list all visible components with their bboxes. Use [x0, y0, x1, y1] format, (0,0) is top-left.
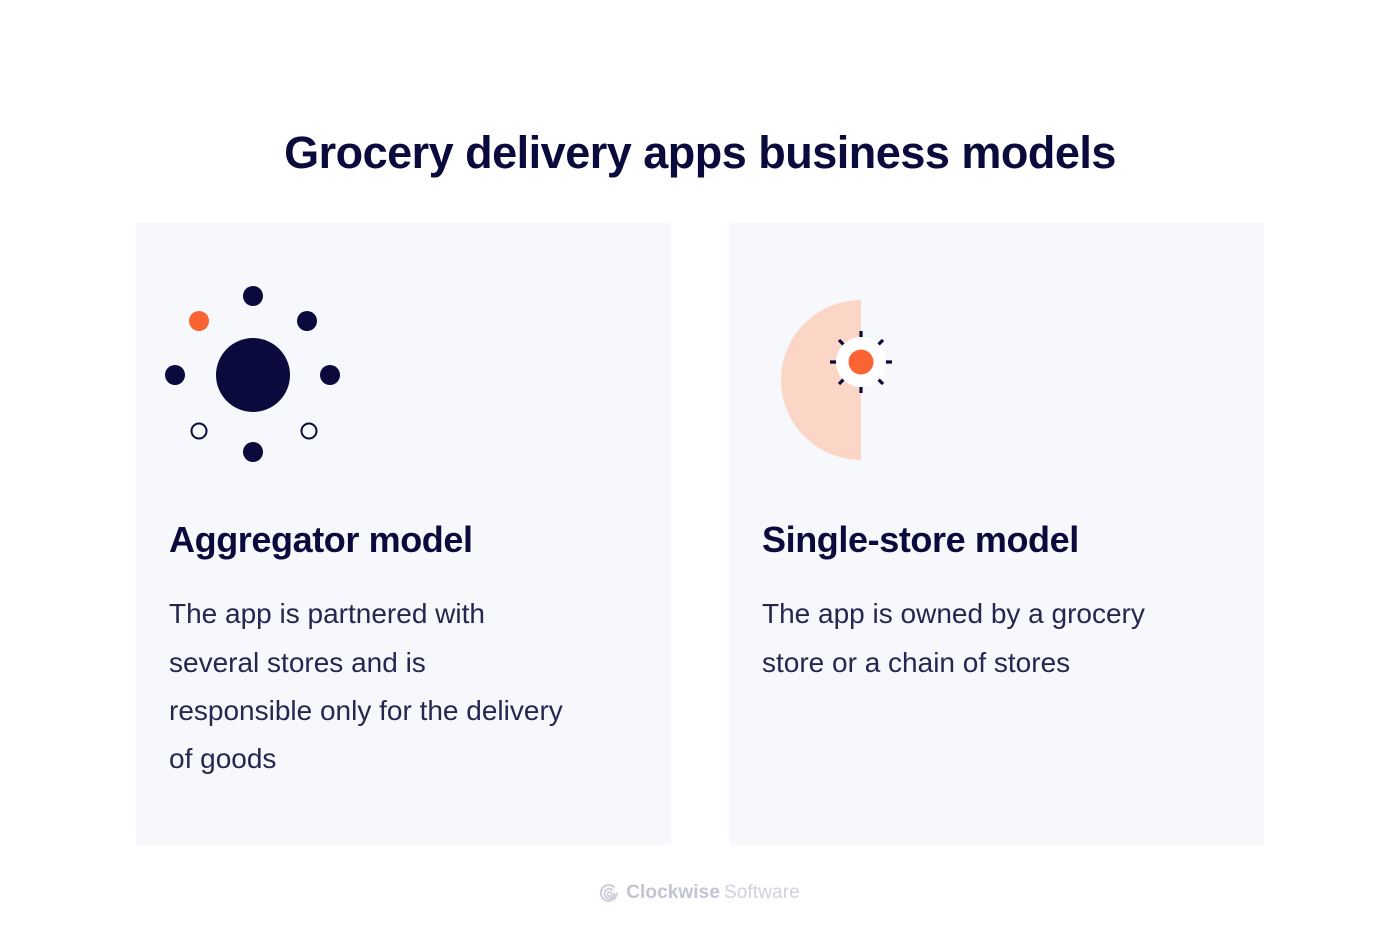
card-aggregator: Aggregator model The app is partnered wi… [136, 223, 671, 845]
satellite-dot-lower-right-hollow [302, 424, 317, 439]
hub-circle [216, 338, 290, 412]
clockwise-spiral-logo-icon [600, 884, 619, 903]
aggregator-network-icon [136, 223, 671, 513]
card-single-store-description: The app is owned by a grocery store or a… [762, 590, 1182, 686]
footer-brand-suffix: Software [724, 882, 800, 903]
single-store-sun-icon [729, 223, 1264, 513]
card-single-store: Single-store model The app is owned by a… [729, 223, 1264, 845]
satellite-dot-bottom [243, 442, 263, 462]
card-single-store-body: Single-store model The app is owned by a… [762, 519, 1232, 687]
satellite-dot-upper-right [297, 311, 317, 331]
infographic-page: Grocery delivery apps business models [0, 0, 1400, 950]
store-core-accent-dot [849, 350, 874, 375]
satellite-dot-top [243, 286, 263, 306]
card-aggregator-description: The app is partnered with several stores… [169, 590, 569, 783]
model-cards-row: Aggregator model The app is partnered wi… [136, 223, 1264, 845]
card-single-store-heading: Single-store model [762, 519, 1232, 560]
footer-logo: ClockwiseSoftware [0, 882, 1400, 904]
satellite-dot-lower-left-hollow [192, 424, 207, 439]
card-aggregator-heading: Aggregator model [169, 519, 639, 560]
footer-brand-text: ClockwiseSoftware [626, 882, 800, 904]
card-aggregator-body: Aggregator model The app is partnered wi… [169, 519, 639, 783]
satellite-dot-right [320, 365, 340, 385]
satellite-dot-left [165, 365, 185, 385]
satellite-dot-upper-left-accent [189, 311, 209, 331]
footer-brand-name: Clockwise [626, 882, 720, 903]
page-title: Grocery delivery apps business models [0, 126, 1400, 180]
